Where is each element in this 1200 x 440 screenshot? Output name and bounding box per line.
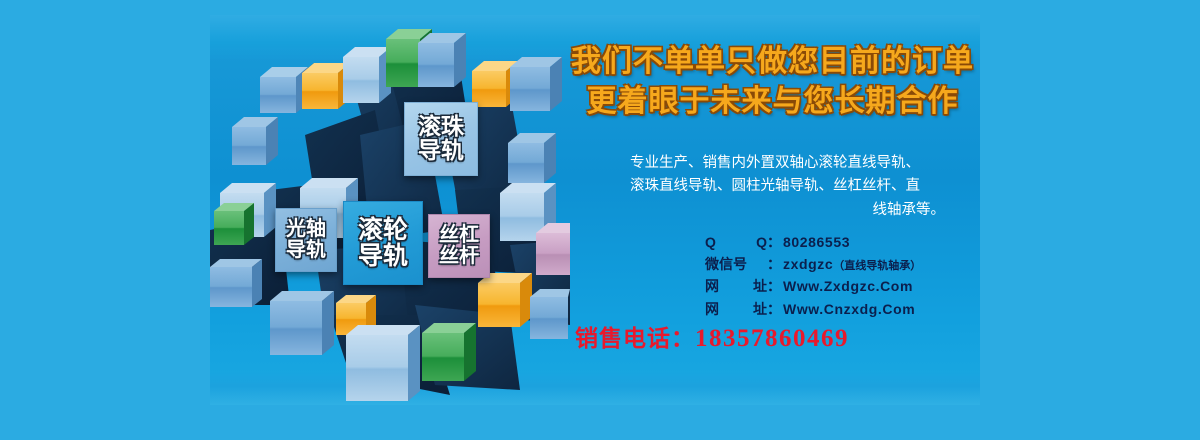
- product-label-gunlun-line1: 滚轮: [358, 217, 408, 243]
- product-label-sigang-sigan[interactable]: 丝杠 丝杆: [428, 214, 490, 278]
- description-line-2: 滚珠直线导轨、圆柱光轴导轨、丝杠丝杆、直: [605, 175, 945, 198]
- product-label-gunzhu-line2: 导轨: [418, 139, 464, 163]
- cube-orange-top: [302, 63, 350, 109]
- cube-blue-right-edge: [508, 133, 556, 183]
- sales-phone-number: 18357860469: [695, 325, 849, 352]
- contact-row-website-1[interactable]: 网 址 ： Www.Zxdgzc.Com: [705, 275, 980, 297]
- contact-row-qq[interactable]: Q Q ： 80286553: [705, 231, 980, 253]
- cube-blue-bottom-left: [270, 291, 334, 355]
- contact-value-website-2: Www.Cnzxdg.Com: [783, 298, 915, 320]
- cube-green-lower-left: [214, 203, 254, 245]
- description: 专业生产、销售内外置双轴心滚轮直线导轨、 滚珠直线导轨、圆柱光轴导轨、丝杠丝杆、…: [605, 152, 945, 222]
- cube-blue-top-center: [343, 47, 391, 103]
- sales-phone-label: 销售电话：: [575, 325, 695, 351]
- product-label-sigang-line2: 丝杆: [439, 246, 479, 267]
- contact-value-wechat: zxdgzc: [783, 253, 833, 275]
- cube-orange-bottom-right: [478, 273, 532, 327]
- cube-blue-mid-left: [232, 117, 278, 165]
- contact-separator-website-1: ：: [767, 275, 781, 297]
- product-label-gunzhu-line1: 滚珠: [418, 115, 464, 139]
- product-label-gunzhu-daogui[interactable]: 滚珠 导轨: [404, 102, 478, 176]
- contact-label-website-1: 网 址: [705, 275, 767, 297]
- banner-text-column: 我们不单单只做您目前的订单 更着眼于未来与您长期合作 专业生产、销售内外置双轴心…: [565, 15, 980, 405]
- headline: 我们不单单只做您目前的订单 更着眼于未来与您长期合作: [565, 42, 980, 121]
- cube-blue-top-right: [418, 33, 466, 87]
- contact-label-website-2: 网 址: [705, 298, 767, 320]
- contact-row-wechat[interactable]: 微信号 ： zxdgzc （直线导轨轴承）: [705, 253, 980, 275]
- product-label-gunlun-line2: 导轨: [358, 243, 408, 269]
- headline-line-2: 更着眼于未来与您长期合作: [565, 82, 980, 122]
- contact-value-qq: 80286553: [783, 231, 850, 253]
- contact-value-website-1: Www.Zxdgzc.Com: [783, 275, 913, 297]
- cube-blue-far-right: [510, 57, 562, 111]
- product-label-sigang-line1: 丝杠: [439, 225, 479, 246]
- sales-phone[interactable]: 销售电话：18357860469: [575, 319, 975, 353]
- contact-row-website-2[interactable]: 网 址 ： Www.Cnzxdg.Com: [705, 298, 980, 320]
- contact-separator-wechat: ：: [767, 253, 781, 275]
- contact-separator-website-2: ：: [767, 298, 781, 320]
- cube-blue-lower-left: [210, 259, 262, 307]
- contact-note-wechat: （直线导轨轴承）: [833, 258, 921, 275]
- promo-banner: 滚珠 导轨 光轴 导轨 滚轮 导轨 丝杠 丝杆 我们不单单只做您目前的订单 更着…: [210, 15, 980, 405]
- cube-cluster-graphic: 滚珠 导轨 光轴 导轨 滚轮 导轨 丝杠 丝杆: [210, 15, 570, 405]
- contact-label-wechat: 微信号: [705, 253, 767, 275]
- contact-block: Q Q ： 80286553 微信号 ： zxdgzc （直线导轨轴承）: [705, 231, 980, 320]
- cube-blue-bottom-far-right: [530, 289, 570, 339]
- description-line-1: 专业生产、销售内外置双轴心滚轮直线导轨、: [605, 152, 945, 175]
- product-label-guangzhou-line1: 光轴: [286, 219, 326, 240]
- contact-label-qq: Q Q: [705, 231, 767, 253]
- product-label-guangzhou-daogui[interactable]: 光轴 导轨: [275, 208, 337, 272]
- headline-line-1: 我们不单单只做您目前的订单: [565, 42, 980, 82]
- product-label-guangzhou-line2: 导轨: [286, 240, 326, 261]
- product-label-gunlun-daogui[interactable]: 滚轮 导轨: [343, 201, 423, 285]
- cube-blue-bottom-center: [346, 325, 420, 401]
- page-root: 滚珠 导轨 光轴 导轨 滚轮 导轨 丝杠 丝杆 我们不单单只做您目前的订单 更着…: [0, 0, 1200, 440]
- description-line-3: 线轴承等。: [605, 199, 945, 222]
- contact-separator-qq: ：: [767, 231, 781, 253]
- cube-green-bottom-right: [422, 323, 476, 381]
- cube-blue-upper-left: [260, 67, 308, 113]
